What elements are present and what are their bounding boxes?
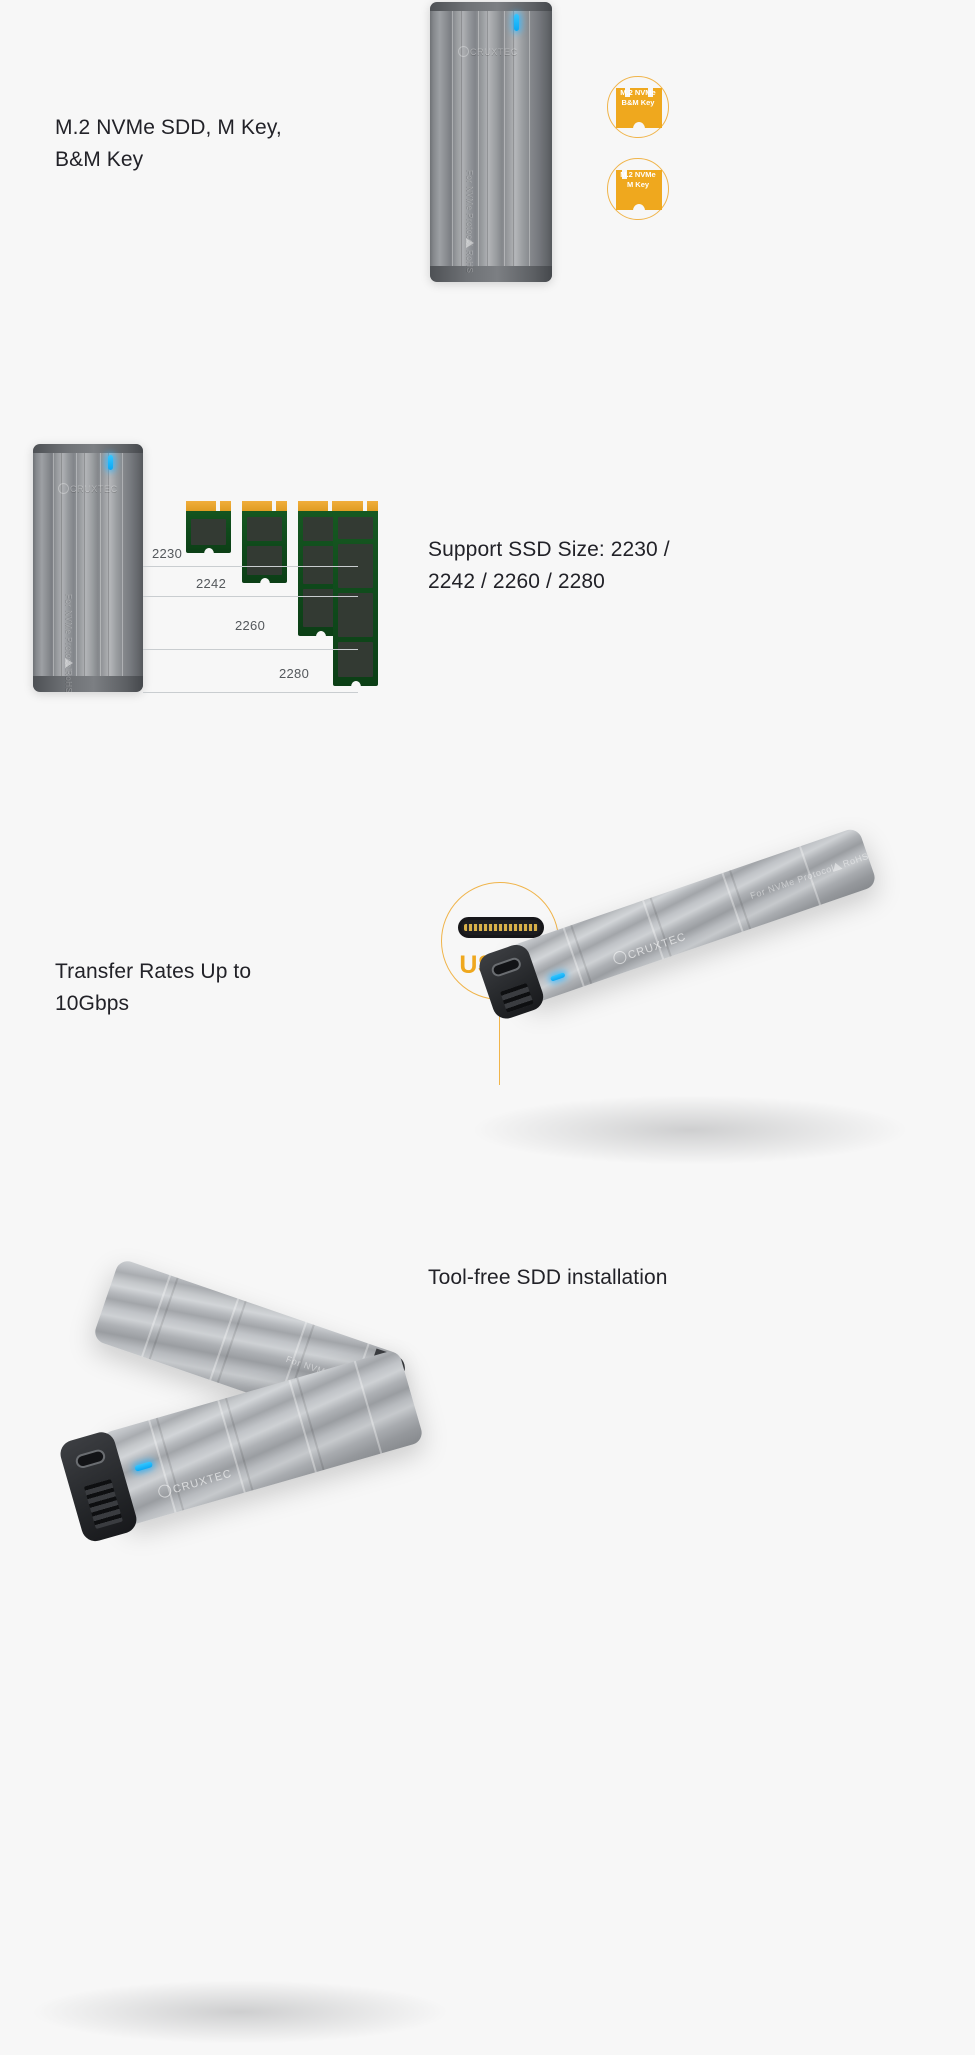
brand-logo: CRUXTEC [612, 929, 688, 967]
feature-line-1: Transfer Rates Up to [55, 956, 355, 988]
enclosure-top-cap [33, 444, 143, 453]
enclosure-top-cap [430, 2, 552, 11]
usb-c-port[interactable] [490, 956, 523, 978]
feature-line-1: Support SSD Size: 2230 / [428, 534, 748, 566]
ssd-key-notch [216, 501, 220, 511]
brand-logo: CRUXTEC [458, 46, 518, 57]
size-label-2280: 2280 [279, 666, 309, 681]
ssd-screw-notch [204, 548, 214, 554]
ssd-chip [338, 517, 373, 539]
led-indicator [514, 14, 519, 31]
circle-c-icon [157, 1483, 173, 1499]
key-badge-label: M.2 NVMe M Key [608, 170, 668, 190]
circle-c-icon [612, 949, 629, 966]
usb-c-port[interactable] [74, 1448, 107, 1470]
feature-text-tool-free: Tool-free SDD installation [428, 1262, 758, 1294]
usb-c-pins [464, 924, 538, 931]
brand-logo: CRUXTEC [157, 1466, 234, 1500]
enclosure-front-view-sizes: CRUXTEC For NVMe Protocol RoHS [33, 444, 143, 692]
marking-rohs: RoHS [828, 851, 870, 874]
feature-text-ssd-size: Support SSD Size: 2230 / 2242 / 2260 / 2… [428, 534, 748, 598]
feature-line-2: B&M Key [55, 144, 355, 176]
product-feature-page: M.2 NVMe SDD, M Key, B&M Key CRUXTEC For… [0, 0, 975, 2055]
enclosure-body: CRUXTEC For NVMe Protocol RoHS [508, 827, 878, 1006]
key-screw-notch [633, 204, 645, 211]
feature-text-transfer-rate: Transfer Rates Up to 10Gbps [55, 956, 355, 1020]
feature-line-2: 2242 / 2260 / 2280 [428, 566, 748, 598]
feature-text-compatibility: M.2 NVMe SDD, M Key, B&M Key [55, 112, 355, 176]
ssd-key-notch [272, 501, 276, 511]
ssd-chip [338, 642, 373, 677]
device-shadow [30, 1980, 450, 2044]
size-label-2230: 2230 [152, 546, 182, 561]
ssd-module-2230 [186, 501, 231, 553]
ssd-module-2242 [242, 501, 287, 583]
marking-protocol: For NVMe Protocol [749, 863, 836, 901]
circle-c-icon [458, 46, 469, 57]
size-leader-line-2260 [143, 649, 358, 650]
ssd-module-2280 [333, 501, 378, 686]
ssd-chip [338, 593, 373, 637]
ssd-gold-connector [186, 501, 231, 511]
size-leader-line-2230 [143, 566, 358, 567]
key-badge-bm-key: M.2 NVMe B&M Key [607, 76, 669, 138]
ventilation-slots [500, 983, 534, 1013]
enclosure-bottom-cap [430, 266, 552, 282]
key-badge-m-key: M.2 NVMe M Key [607, 158, 669, 220]
feature-line-1: M.2 NVMe SDD, M Key, [55, 112, 355, 144]
recycling-triangle-icon [466, 238, 474, 248]
led-indicator [108, 455, 113, 470]
feature-line-1: Tool-free SDD installation [428, 1262, 758, 1294]
enclosure-bottom-cap [33, 676, 143, 692]
ssd-chip [191, 519, 226, 545]
enclosure-front-view-top: CRUXTEC For NVMe Protocol RoHS [430, 2, 552, 282]
size-leader-line-2280 [143, 692, 358, 693]
ventilation-slots [84, 1479, 123, 1529]
key-badge-label: M.2 NVMe B&M Key [608, 88, 668, 108]
key-screw-notch [633, 122, 645, 129]
enclosure-angled-usbc: CRUXTEC For NVMe Protocol RoHS [470, 820, 935, 1130]
ssd-gold-connector [242, 501, 287, 511]
ssd-screw-notch [316, 631, 326, 637]
feature-line-2: 10Gbps [55, 988, 355, 1020]
ssd-screw-notch [351, 681, 361, 687]
size-label-2260: 2260 [235, 618, 265, 633]
size-label-2242: 2242 [196, 576, 226, 591]
recycling-triangle-icon [65, 658, 73, 668]
ssd-chip [247, 546, 282, 575]
ssd-key-notch [363, 501, 367, 511]
circle-c-icon [58, 483, 69, 494]
marking-rohs: RoHS [465, 236, 474, 273]
ssd-gold-connector [333, 501, 378, 511]
recycling-triangle-icon [831, 861, 843, 872]
usb-c-port-icon [458, 917, 544, 938]
ssd-screw-notch [260, 578, 270, 584]
brand-logo: CRUXTEC [58, 483, 118, 494]
ssd-chip [247, 517, 282, 541]
ssd-key-notch [328, 501, 332, 511]
marking-rohs: RoHS [64, 656, 73, 692]
size-leader-line-2242 [143, 596, 358, 597]
